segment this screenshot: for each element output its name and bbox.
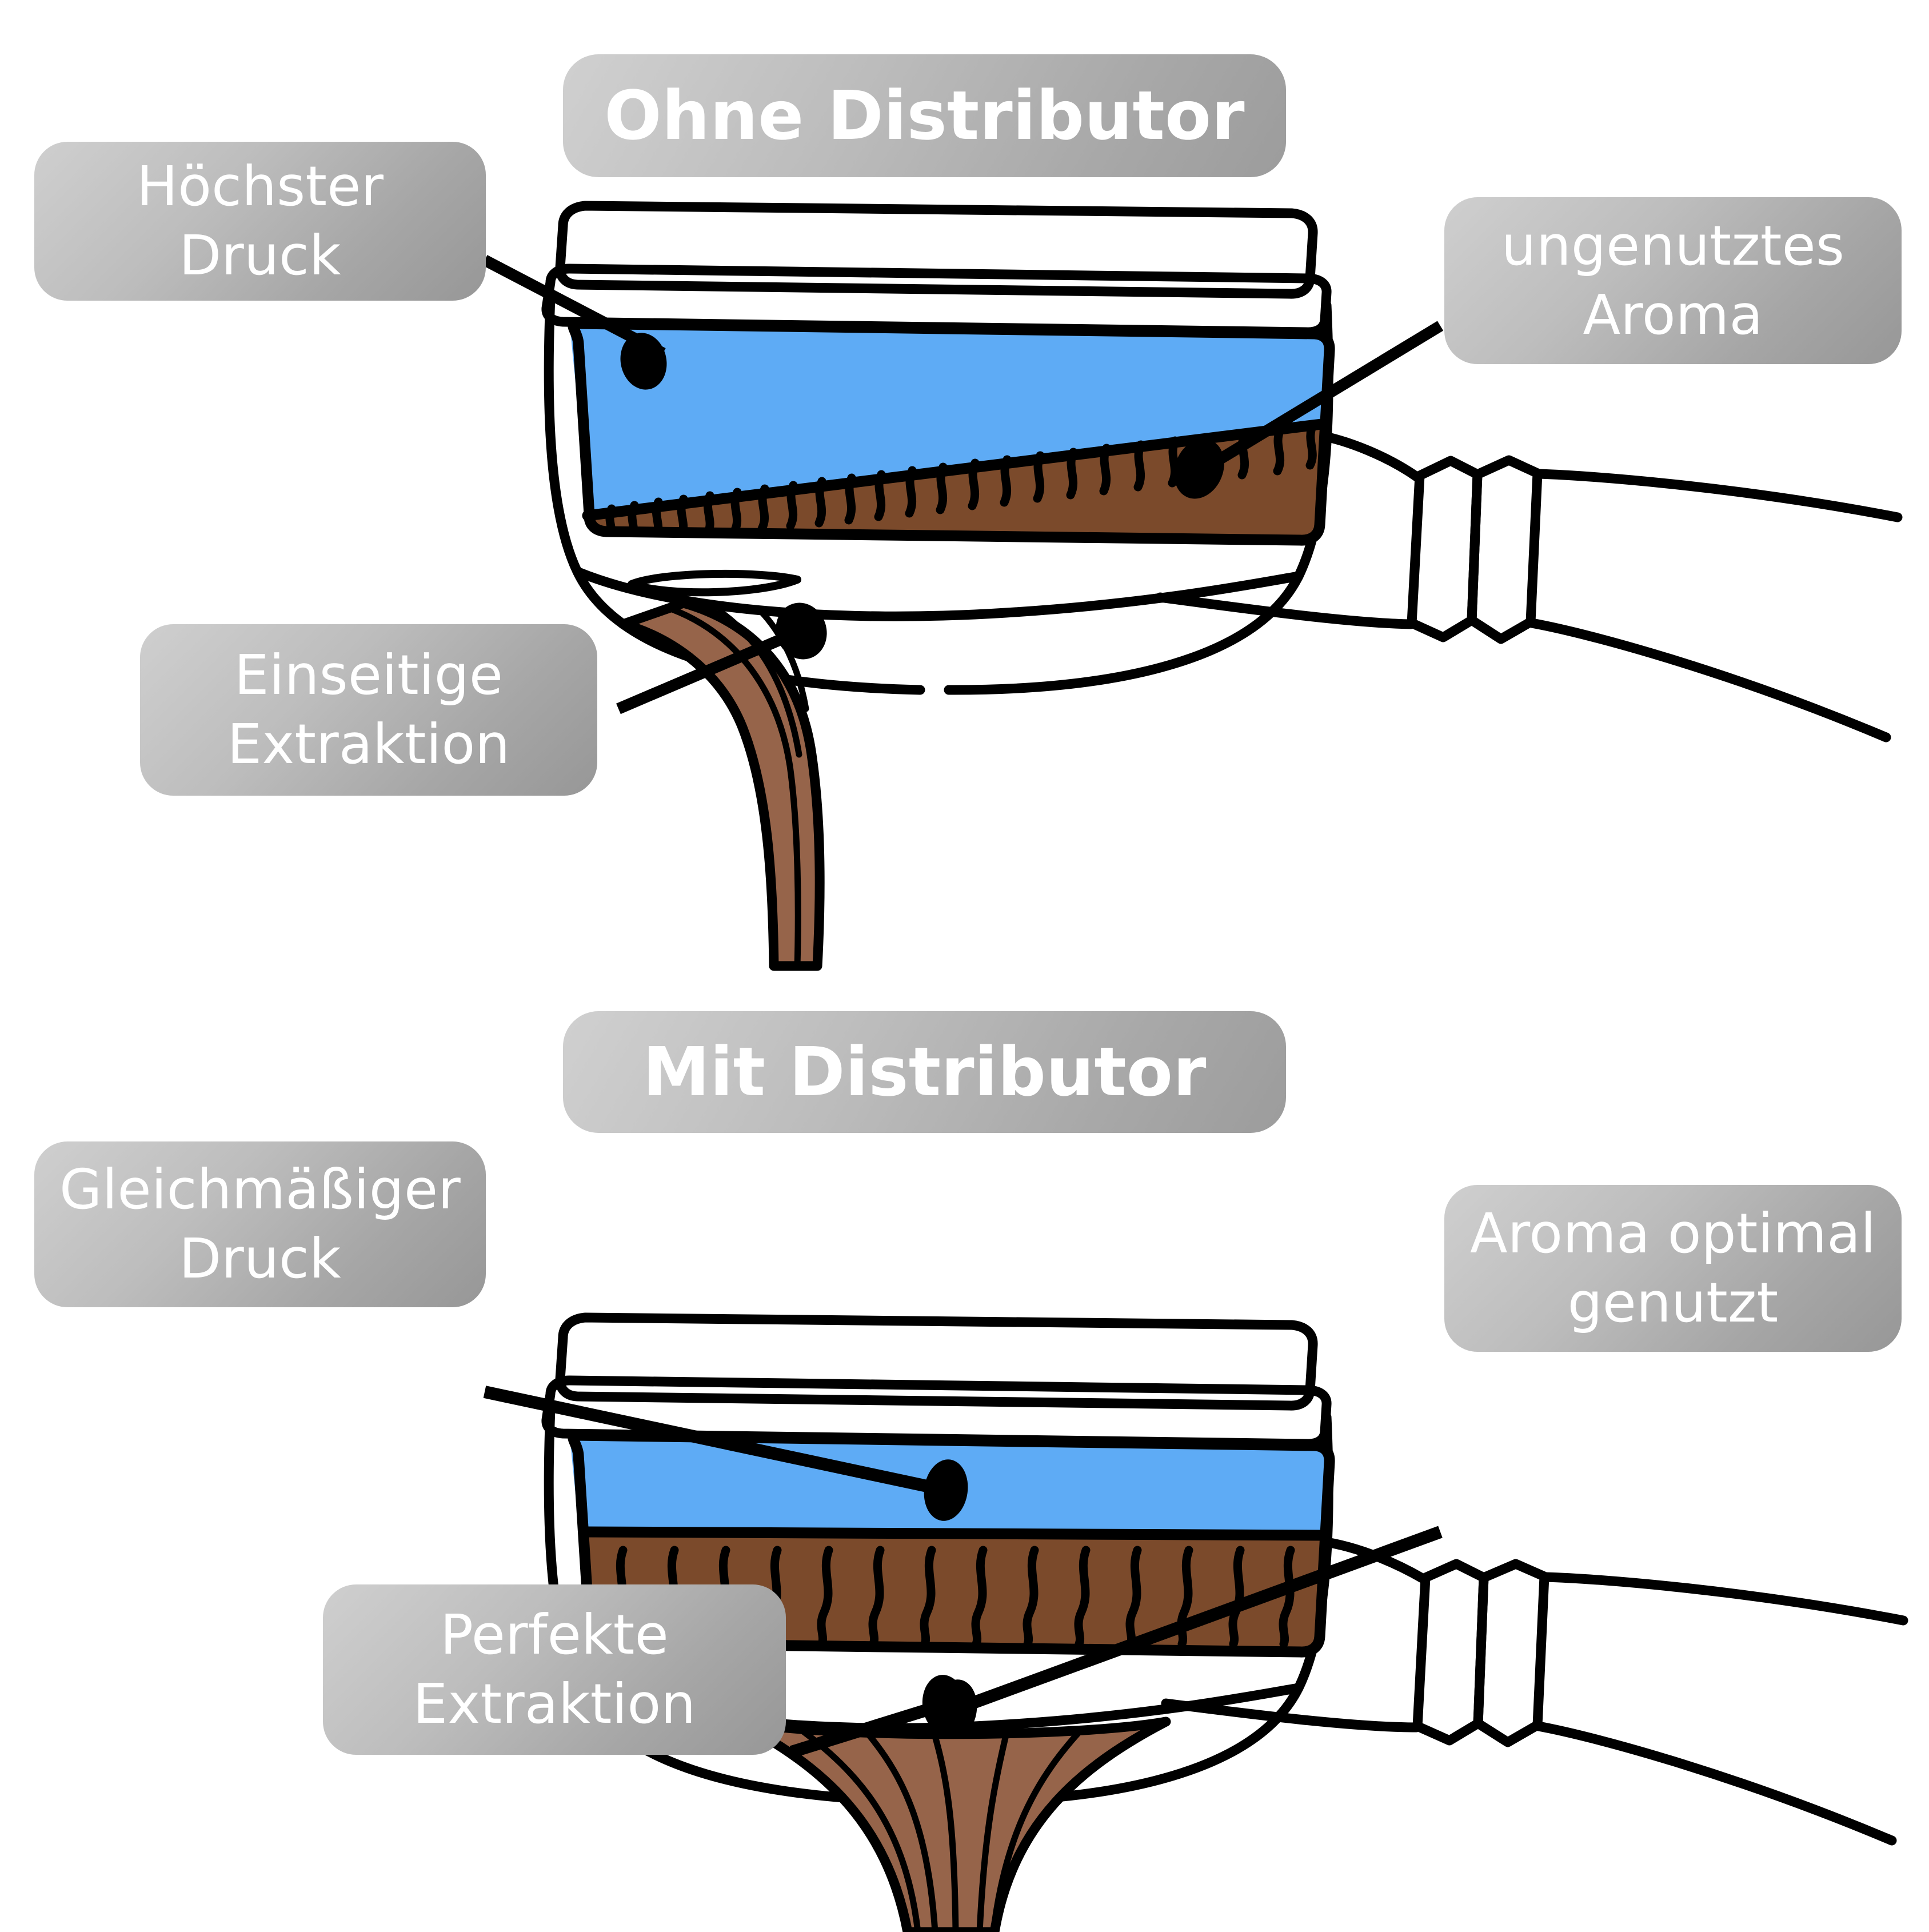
label-line-2: Druck <box>179 1224 341 1294</box>
label-perfekte-extraktion: Perfekte Extraktion <box>323 1584 786 1755</box>
panel-title-text: Mit Distributor <box>642 1029 1206 1115</box>
diagram-canvas: Ohne Distributor Höchster Druck ungenutz… <box>0 0 1929 1929</box>
water-coffee-interface-with <box>585 1532 1325 1535</box>
coffee-stream-without <box>623 603 820 966</box>
label-line-1: Höchster <box>137 152 384 221</box>
panel-without-distributor: Ohne Distributor Höchster Druck ungenutz… <box>0 0 1929 966</box>
label-line-1: Aroma optimal <box>1470 1199 1876 1268</box>
panel-title-without-distributor: Ohne Distributor <box>563 54 1286 177</box>
callout-dot-bottom <box>769 596 834 666</box>
label-line-2: Extraktion <box>227 710 510 779</box>
label-line-2: Druck <box>179 221 341 290</box>
label-line-1: Einseitige <box>234 641 503 710</box>
label-line-2: Aroma <box>1583 281 1763 350</box>
panel-with-distributor: Mit Distributor Gleichmäßiger Druck Arom… <box>0 966 1929 1932</box>
label-line-1: Gleichmäßiger <box>59 1155 461 1224</box>
panel-title-with-distributor: Mit Distributor <box>563 1011 1286 1133</box>
label-einseitige-extraktion: Einseitige Extraktion <box>140 624 597 796</box>
label-line-1: Perfekte <box>440 1600 669 1670</box>
panel-title-text: Ohne Distributor <box>604 73 1244 158</box>
label-gleichmaessiger-druck: Gleichmäßiger Druck <box>34 1141 486 1307</box>
label-line-2: genutzt <box>1568 1268 1779 1338</box>
label-ungenutztes-aroma: ungenutztes Aroma <box>1444 197 1902 364</box>
label-aroma-optimal-genutzt: Aroma optimal genutzt <box>1444 1185 1902 1352</box>
basket-base-highlight-without <box>632 574 797 592</box>
label-hoechster-druck: Höchster Druck <box>34 142 486 301</box>
label-line-2: Extraktion <box>413 1670 696 1739</box>
label-line-1: ungenutztes <box>1501 211 1844 281</box>
